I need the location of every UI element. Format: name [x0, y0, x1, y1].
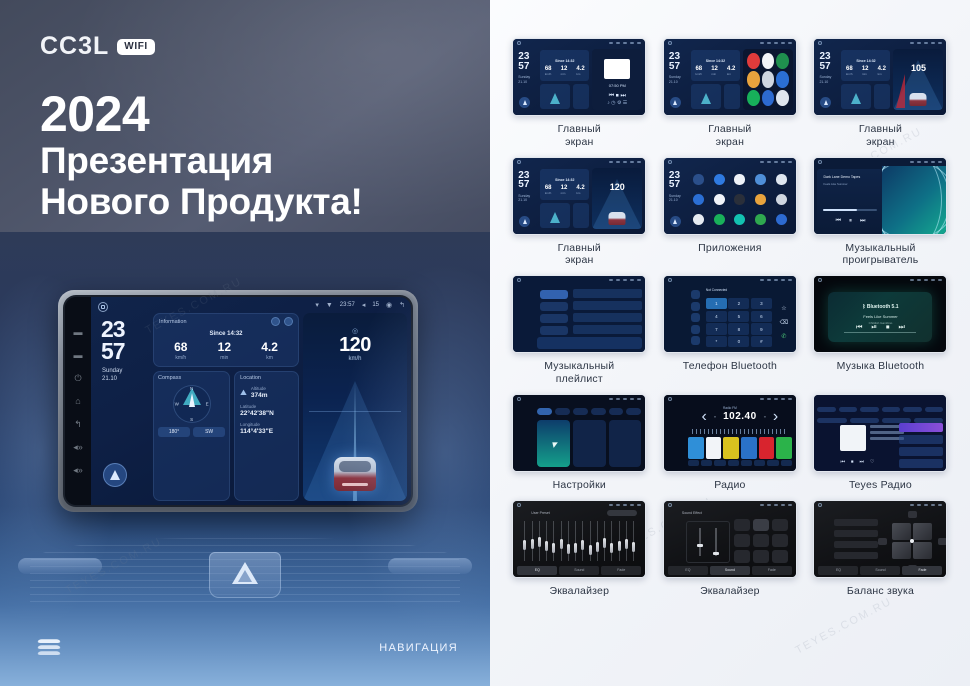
- stat-distance-unit: km: [261, 355, 278, 361]
- hero-headline-line1: Презентация: [40, 140, 363, 181]
- eq-slider[interactable]: [545, 521, 548, 561]
- list-item[interactable]: [899, 435, 943, 444]
- preset-5[interactable]: [759, 437, 775, 459]
- mini-status-bar: [513, 39, 645, 47]
- navigation-label: НАВИГАЦИЯ: [379, 642, 458, 654]
- app-grid[interactable]: [688, 169, 792, 230]
- presentation-slide: CC3L WIFI 2024 Презентация Нового Продук…: [0, 0, 970, 686]
- player-controls[interactable]: ⏮ ⏸ ⏭: [817, 218, 883, 225]
- information-card[interactable]: Information Since 14:32: [153, 313, 299, 367]
- power-icon[interactable]: ⏻: [72, 372, 84, 384]
- call-log-icon[interactable]: [691, 325, 700, 334]
- thumbnail-home-nav[interactable]: 2357 Sunday21.10 Since 14:32 68km/h12min…: [512, 157, 646, 235]
- call-icon[interactable]: ✆: [781, 333, 786, 340]
- balance-right-button[interactable]: [938, 538, 947, 545]
- home-screen-body: 23 57 Sunday 21.10 Information: [95, 313, 407, 501]
- tab-sound[interactable]: Sound: [860, 566, 900, 575]
- road-perspective: [303, 381, 407, 501]
- information-actions[interactable]: [271, 317, 293, 326]
- preset-rock[interactable]: [753, 519, 769, 532]
- grid-caption: Teyes Радио: [849, 479, 912, 492]
- favorite-icon[interactable]: ♡: [870, 459, 874, 465]
- next-icon[interactable]: ⏭: [899, 324, 905, 332]
- home-icon[interactable]: ⌂: [72, 395, 84, 407]
- air-vent-right: [388, 558, 472, 574]
- contacts-icon[interactable]: [691, 302, 700, 311]
- head-unit-screen-frame: ▬ ▬ ⏻ ⌂ ↰ ◂» ◂» ▾ ▼ 23:57: [65, 297, 411, 505]
- rds-icon[interactable]: [741, 460, 752, 466]
- mini-compass: [540, 203, 570, 228]
- dialpad-key[interactable]: 3: [751, 298, 772, 309]
- audio-tabs[interactable]: EQ Sound Fade: [517, 566, 641, 575]
- eq-slider[interactable]: [538, 521, 541, 561]
- previous-icon[interactable]: ⏮: [836, 218, 841, 225]
- hazard-button[interactable]: [209, 552, 281, 598]
- station-presets[interactable]: [688, 437, 792, 459]
- audio-tabs[interactable]: EQ Sound Fade: [668, 566, 792, 575]
- preset-1[interactable]: [688, 437, 704, 459]
- grid-caption: Главныйэкран: [558, 242, 601, 268]
- bt-music-card: ᛒ Bluetooth 5.1 Feels Like Summer Childi…: [828, 292, 932, 342]
- grid-item[interactable]: 2357 Sunday21.10 Since 14:32 68km/h12min…: [805, 38, 956, 149]
- list-item[interactable]: [899, 447, 943, 456]
- eq-icon[interactable]: [728, 460, 739, 466]
- previous-icon[interactable]: ⏮: [840, 459, 845, 465]
- assistant-icon[interactable]: ◉: [386, 301, 392, 309]
- latitude-label: Latitude: [240, 404, 293, 409]
- status-bar: ▾ ▼ 23:57 ◂ 15 ◉ ↰: [315, 301, 405, 309]
- settings-tabs[interactable]: [537, 406, 641, 417]
- list-item[interactable]: [540, 314, 568, 323]
- compass-dial: N E S W: [173, 385, 211, 423]
- bezel-speaker-icon[interactable]: ▬: [72, 349, 84, 361]
- table-row[interactable]: [573, 325, 642, 334]
- preset-jazz[interactable]: [772, 519, 788, 532]
- mini-date: Sunday21.10: [518, 194, 530, 204]
- preset-3[interactable]: [723, 437, 739, 459]
- thumbnail-home-apps[interactable]: 2357 Sunday21.10 Since 14:32 68km/h12min…: [663, 38, 797, 116]
- radio-frequency: 102.40: [723, 411, 757, 422]
- dialpad-key[interactable]: 1: [706, 298, 727, 309]
- preset-2[interactable]: [706, 437, 722, 459]
- player-info-pane: Dark Lane Demo Tapes Feels Like Summer ⏮…: [817, 169, 883, 230]
- grid-item[interactable]: ᛒ Bluetooth 5.1 Feels Like Summer Childi…: [805, 275, 956, 386]
- information-since: Since 14:32: [159, 331, 293, 337]
- eq-slider[interactable]: [589, 521, 592, 561]
- settings-icon[interactable]: [781, 460, 792, 466]
- tab-eq[interactable]: EQ: [668, 566, 708, 575]
- altitude-row: ⛰ Altitude 374m: [240, 386, 293, 399]
- latitude-row: Latitude 22°42'38"N: [240, 404, 293, 417]
- seek-up-icon[interactable]: »: [764, 414, 766, 419]
- tab-about[interactable]: [626, 408, 641, 415]
- mini-location: [573, 203, 589, 228]
- settings-tiles[interactable]: ▾: [537, 420, 641, 467]
- mini-speed-value: 120: [592, 182, 642, 192]
- air-vent-left: [18, 558, 102, 574]
- longitude-label: Longitude: [240, 422, 293, 427]
- thumbnail-apps[interactable]: 2357 Sunday21.10: [663, 157, 797, 235]
- mini-location: [874, 84, 890, 109]
- mini-clock: 2357: [669, 171, 680, 190]
- thumbnail-equalizer-bars[interactable]: User Preset EQ Sound Fade: [512, 500, 646, 578]
- dialpad-key[interactable]: 2: [728, 298, 749, 309]
- eq-slider[interactable]: [552, 521, 555, 561]
- thumbnail-playlist[interactable]: [512, 275, 646, 353]
- list-item[interactable]: [540, 290, 568, 299]
- dual-sliders[interactable]: [686, 521, 730, 563]
- navigation-arrow-icon[interactable]: [103, 463, 127, 487]
- navigation-arrow-icon[interactable]: [519, 216, 530, 227]
- thumbnail-home-road[interactable]: 2357 Sunday21.10 Since 14:32 68km/h12min…: [813, 38, 947, 116]
- stat-speed-value: 68: [174, 341, 187, 353]
- speed-readout: ◎ 120 km/h: [303, 327, 407, 362]
- preset-pop[interactable]: [734, 519, 750, 532]
- dialpad-key[interactable]: 5: [728, 311, 749, 322]
- mini-clock: 2357: [669, 52, 680, 71]
- eq-slider[interactable]: [581, 521, 584, 561]
- audio-tabs[interactable]: EQ Sound Fade: [818, 566, 942, 575]
- tab-sound[interactable]: [555, 408, 570, 415]
- eq-slider[interactable]: [618, 521, 621, 561]
- tab-system[interactable]: [591, 408, 606, 415]
- grid-item[interactable]: Музыкальныйплейлист: [504, 275, 655, 386]
- mini-status-bar: [513, 395, 645, 403]
- mini-road-widget: 120: [592, 168, 642, 229]
- compass-north: N: [190, 386, 193, 391]
- grid-item[interactable]: Not Connected 1 2 3 4 5 6 7 8 9 * 0 #: [655, 275, 806, 386]
- list-item[interactable]: [540, 326, 568, 335]
- thumbnail-teyes-radio[interactable]: ⏮ ⏹ ⏭ ♡: [813, 394, 947, 472]
- mini-player-bar[interactable]: [537, 337, 642, 349]
- preset-6[interactable]: [776, 437, 792, 459]
- eq-slider[interactable]: [610, 521, 613, 561]
- mini-app-shortcuts: [743, 49, 793, 110]
- eq-preset-select[interactable]: [607, 510, 637, 516]
- preset-live[interactable]: [772, 550, 788, 563]
- mini-clock: 2357: [819, 52, 830, 71]
- hero-year: 2024: [40, 88, 363, 140]
- next-station-icon[interactable]: ›: [773, 408, 778, 426]
- next-icon[interactable]: ⏭: [860, 218, 865, 225]
- prev-station-icon[interactable]: ‹: [702, 408, 707, 426]
- mini-stats: 68km/h12min4.2km: [691, 66, 740, 76]
- altitude-value: 374m: [251, 392, 268, 399]
- volume-up-icon[interactable]: ◂»: [72, 441, 84, 453]
- table-row[interactable]: [573, 313, 642, 322]
- dialpad-icon[interactable]: [691, 290, 700, 299]
- mini-compass: [841, 84, 871, 109]
- teyes-tabs[interactable]: [817, 405, 943, 414]
- grid-caption: Музыкальныйплейлист: [544, 360, 614, 386]
- seek-down-icon[interactable]: «: [714, 414, 716, 419]
- tab-eq[interactable]: EQ: [818, 566, 858, 575]
- station-list[interactable]: [899, 423, 943, 467]
- compass-needle-icon: [189, 393, 195, 407]
- mini-date: Sunday21.10: [518, 75, 530, 85]
- dialpad-key[interactable]: 6: [751, 311, 772, 322]
- layers-icon[interactable]: [38, 638, 60, 656]
- list-item[interactable]: [540, 302, 568, 311]
- hero-footer: НАВИГАЦИЯ: [0, 616, 490, 686]
- balance-presets[interactable]: [834, 519, 878, 563]
- bezel-mic-icon[interactable]: ▬: [72, 326, 84, 338]
- grid-caption: Эквалайзер: [549, 585, 609, 598]
- eq-slider[interactable]: [574, 521, 577, 561]
- screenshot-grid-panel: TEYES.COM.RU TEYES.COM.RU TEYES.COM.RU T…: [490, 0, 970, 686]
- dialpad-key[interactable]: 7: [706, 323, 727, 334]
- information-stats: 68 km/h 12 min 4.2: [159, 341, 293, 363]
- wifi-icon: ▾: [315, 301, 319, 309]
- feature-grid: 2357 Sunday21.10 Since 14:32 68km/h12min…: [504, 38, 956, 605]
- status-volume: 15: [372, 302, 379, 308]
- signal-icon: ▼: [326, 302, 333, 309]
- mini-media-widget: 07:50 PM ⏮ ⏹ ⏭ ♪ ◷ ⚙ ☰: [592, 49, 642, 110]
- eq-slider[interactable]: [560, 521, 563, 561]
- dialpad-key[interactable]: 8: [728, 323, 749, 334]
- band-button[interactable]: [688, 460, 699, 466]
- stat-distance-value: 4.2: [261, 341, 278, 353]
- table-row[interactable]: [573, 289, 642, 298]
- more-tile[interactable]: [609, 420, 642, 467]
- mini-info-card: Since 14:32 68km/h12min4.2km: [841, 50, 890, 81]
- table-row[interactable]: [573, 301, 642, 310]
- tab-apps[interactable]: [609, 408, 624, 415]
- grid-caption: Приложения: [698, 242, 761, 255]
- radio-toolbar[interactable]: [688, 459, 792, 468]
- dialpad-key[interactable]: 9: [751, 323, 772, 334]
- longitude-value: 114°4'33"E: [240, 428, 293, 435]
- widgets-column: Information Since 14:32: [153, 313, 299, 501]
- compass-title: Compass: [158, 375, 225, 381]
- list-item[interactable]: [899, 459, 943, 468]
- mini-date: Sunday21.10: [669, 194, 681, 204]
- eq-slider[interactable]: [523, 521, 526, 561]
- stop-icon[interactable]: ⏹: [886, 324, 890, 332]
- road-horizon: [309, 411, 401, 412]
- stat-duration-unit: min: [218, 355, 231, 361]
- grid-caption: Эквалайзер: [700, 585, 760, 598]
- screen-home-icon[interactable]: [98, 302, 108, 312]
- eq-slider[interactable]: [625, 521, 628, 561]
- mini-date: Sunday21.10: [819, 75, 831, 85]
- mini-status-bar: [664, 39, 796, 47]
- preset-4[interactable]: [741, 437, 757, 459]
- dialpad-key[interactable]: 0: [728, 336, 749, 347]
- altitude-label: Altitude: [251, 386, 268, 391]
- preset-vocal[interactable]: [753, 534, 769, 547]
- phone-nav-rail[interactable]: [688, 287, 704, 348]
- back-icon[interactable]: ↰: [72, 418, 84, 430]
- tab-balance[interactable]: Fade: [902, 566, 942, 575]
- bt-player-controls[interactable]: ⏮ ⏯ ⏹ ⏭: [828, 324, 932, 332]
- dialpad-key[interactable]: 4: [706, 311, 727, 322]
- stop-icon[interactable]: ⏹: [851, 459, 854, 465]
- hero-headline-line2: Нового Продукта!: [40, 181, 363, 222]
- play-pause-icon[interactable]: ⏯: [871, 324, 877, 332]
- album-art: [840, 425, 866, 451]
- track-artist: Feels Like Summer: [823, 182, 847, 186]
- head-unit-display[interactable]: ▾ ▼ 23:57 ◂ 15 ◉ ↰ 23 57: [91, 297, 411, 505]
- preset-custom[interactable]: [753, 550, 769, 563]
- teyes-player-controls[interactable]: ⏮ ⏹ ⏭ ♡: [840, 459, 874, 465]
- information-card-header: Information: [159, 317, 293, 326]
- mini-compass: [540, 84, 570, 109]
- settings-icon[interactable]: [691, 336, 700, 345]
- back-icon[interactable]: ↰: [399, 301, 405, 309]
- thumbnail-equalizer-simple[interactable]: Sound Effect EQ: [663, 500, 797, 578]
- dialpad-key[interactable]: #: [751, 336, 772, 347]
- phone-actions[interactable]: ☆ ⌫ ✆: [775, 298, 793, 347]
- balance-left-button[interactable]: [878, 538, 887, 545]
- equalizer-sliders[interactable]: [523, 521, 635, 561]
- thumbnail-balance[interactable]: EQ Sound Fade: [813, 500, 947, 578]
- mini-clock: 2357: [518, 171, 529, 190]
- mini-status-bar: [664, 158, 796, 166]
- preset-classic[interactable]: [734, 534, 750, 547]
- thumbnail-bt-phone[interactable]: Not Connected 1 2 3 4 5 6 7 8 9 * 0 #: [663, 275, 797, 353]
- scan-icon[interactable]: [701, 460, 712, 466]
- compass-south: S: [190, 417, 193, 422]
- grid-item[interactable]: ⏮ ⏹ ⏭ ♡ Teyes Радио: [805, 394, 956, 492]
- grid-item[interactable]: User Preset EQ Sound Fade Эквалайзер: [504, 500, 655, 598]
- sound-presets[interactable]: [734, 519, 788, 563]
- stat-duration: 12 min: [218, 341, 231, 361]
- fade-front-button[interactable]: [908, 511, 917, 518]
- grid-item[interactable]: Radio FM ‹ « 102.40 » ›: [655, 394, 806, 492]
- search-icon[interactable]: [691, 313, 700, 322]
- back-icon[interactable]: [670, 216, 681, 227]
- eq-slider[interactable]: [596, 521, 599, 561]
- grid-caption: Музыка Bluetooth: [837, 360, 925, 373]
- mini-status-bar: [513, 158, 645, 166]
- navigation-speed-panel[interactable]: ◎ 120 km/h: [303, 313, 407, 501]
- grid-item[interactable]: Sound Effect EQ: [655, 500, 806, 598]
- tab-eq[interactable]: EQ: [517, 566, 557, 575]
- compass-east: E: [206, 402, 209, 407]
- grid-item[interactable]: 2357 Sunday21.10 Since 14:32 68km/h12min…: [504, 157, 655, 268]
- head-unit-side-buttons[interactable]: ▬ ▬ ⏻ ⌂ ↰ ◂» ◂»: [65, 297, 91, 505]
- next-icon[interactable]: ⏭: [860, 459, 865, 465]
- stat-speed-unit: km/h: [174, 355, 187, 361]
- grid-item[interactable]: 2357 Sunday21.10: [655, 157, 806, 268]
- location-card[interactable]: Location ⛰ Altitude 374m: [234, 371, 299, 501]
- lower-widgets-row: Compass N E S W: [153, 371, 299, 501]
- stat-distance: 4.2 km: [261, 341, 278, 361]
- mini-status-bar: [664, 276, 796, 284]
- volume-down-icon[interactable]: ◂»: [72, 464, 84, 476]
- thumbnail-music-player[interactable]: Dark Lane Demo Tapes Feels Like Summer ⏮…: [813, 157, 947, 235]
- progress-bar[interactable]: [844, 332, 916, 333]
- tab-sound[interactable]: Sound: [559, 566, 599, 575]
- st-icon[interactable]: [767, 460, 778, 466]
- grid-caption: Настройки: [553, 479, 606, 492]
- expand-icon[interactable]: [284, 317, 293, 326]
- grid-item[interactable]: 2357 Sunday21.10 Since 14:32 68km/h12min…: [504, 38, 655, 149]
- frequency-scale[interactable]: [692, 429, 788, 434]
- mini-clock: 2357: [518, 52, 529, 71]
- mountain-icon: ⛰: [240, 388, 247, 398]
- compass-direction: SW: [193, 427, 225, 437]
- information-title: Information: [159, 319, 187, 325]
- head-unit-device: ▬ ▬ ⏻ ⌂ ↰ ◂» ◂» ▾ ▼ 23:57: [58, 290, 418, 512]
- tab-sound[interactable]: Sound: [710, 566, 750, 575]
- playlist-tracks[interactable]: [573, 289, 642, 336]
- backspace-icon[interactable]: ⌫: [780, 319, 788, 326]
- thumbnail-settings[interactable]: ▾: [512, 394, 646, 472]
- list-icon[interactable]: [714, 460, 725, 466]
- favorite-icon[interactable]: ☆: [781, 305, 786, 312]
- preset-bass[interactable]: [772, 534, 788, 547]
- carplay-tile[interactable]: [573, 420, 606, 467]
- mini-status-bar: [664, 395, 796, 403]
- refresh-icon[interactable]: [271, 317, 280, 326]
- tab-balance[interactable]: Fade: [601, 566, 641, 575]
- thumbnail-home-media[interactable]: 2357 Sunday21.10 Since 14:32 68km/h12min…: [512, 38, 646, 116]
- longitude-row: Longitude 114°4'33"E: [240, 422, 293, 435]
- album-visualizer: [882, 166, 946, 234]
- grid-item[interactable]: ▾ Настройки: [504, 394, 655, 492]
- wifi-tile[interactable]: ▾: [537, 420, 570, 467]
- thumbnail-bt-music[interactable]: ᛒ Bluetooth 5.1 Feels Like Summer Childi…: [813, 275, 947, 353]
- grid-item[interactable]: EQ Sound Fade Баланс звука: [805, 500, 956, 598]
- bt-version-label: ᛒ Bluetooth 5.1: [828, 304, 932, 310]
- progress-bar[interactable]: [823, 209, 877, 211]
- volume-icon: ◂: [362, 301, 366, 309]
- eq-slider[interactable]: [603, 521, 606, 561]
- grid-item[interactable]: 2357 Sunday21.10 Since 14:32 68km/h12min…: [655, 38, 806, 149]
- mini-status-bar: [814, 501, 946, 509]
- grid-caption: Главныйэкран: [859, 123, 902, 149]
- mini-status-bar: [513, 501, 645, 509]
- preset-flat[interactable]: [734, 550, 750, 563]
- clock-widget[interactable]: 23 57 Sunday 21.10: [95, 313, 149, 501]
- radio-tuner[interactable]: ‹ « 102.40 » ›: [688, 406, 792, 428]
- bluetooth-icon: ᛒ: [862, 304, 865, 310]
- latitude-value: 22°42'38"N: [240, 410, 293, 417]
- eq-slider[interactable]: [632, 521, 635, 561]
- dialpad[interactable]: 1 2 3 4 5 6 7 8 9 * 0 #: [706, 298, 772, 347]
- tab-wlan[interactable]: [537, 408, 552, 415]
- speed-icon: ◎: [303, 327, 407, 335]
- grid-caption: Радио: [714, 479, 745, 492]
- status-time: 23:57: [340, 302, 355, 308]
- compass-card[interactable]: Compass N E S W: [153, 371, 230, 501]
- mini-speed-value: 105: [893, 63, 943, 73]
- eq-slider[interactable]: [531, 521, 534, 561]
- navigation-arrow-icon[interactable]: [670, 97, 681, 108]
- mini-info-card: Since 14:32 68km/h12min4.2km: [540, 169, 589, 200]
- car-3d-model: [334, 457, 376, 491]
- mini-status-bar: [513, 276, 645, 284]
- loc-icon[interactable]: [754, 460, 765, 466]
- list-item[interactable]: [899, 423, 943, 432]
- mini-stats: 68km/h12min4.2km: [540, 66, 589, 76]
- stat-speed: 68 km/h: [174, 341, 187, 361]
- dialpad-key[interactable]: *: [706, 336, 727, 347]
- eq-slider[interactable]: [567, 521, 570, 561]
- pause-icon[interactable]: ⏸: [849, 218, 852, 225]
- tab-balance[interactable]: Fade: [752, 566, 792, 575]
- grid-item[interactable]: Dark Lane Demo Tapes Feels Like Summer ⏮…: [805, 157, 956, 268]
- grid-caption: Телефон Bluetooth: [683, 360, 777, 373]
- thumbnail-radio[interactable]: Radio FM ‹ « 102.40 » ›: [663, 394, 797, 472]
- mini-status-bar: [814, 276, 946, 284]
- tab-display[interactable]: [573, 408, 588, 415]
- wifi-badge: WIFI: [117, 39, 155, 55]
- previous-icon[interactable]: ⏮: [856, 324, 862, 332]
- location-title: Location: [240, 375, 293, 381]
